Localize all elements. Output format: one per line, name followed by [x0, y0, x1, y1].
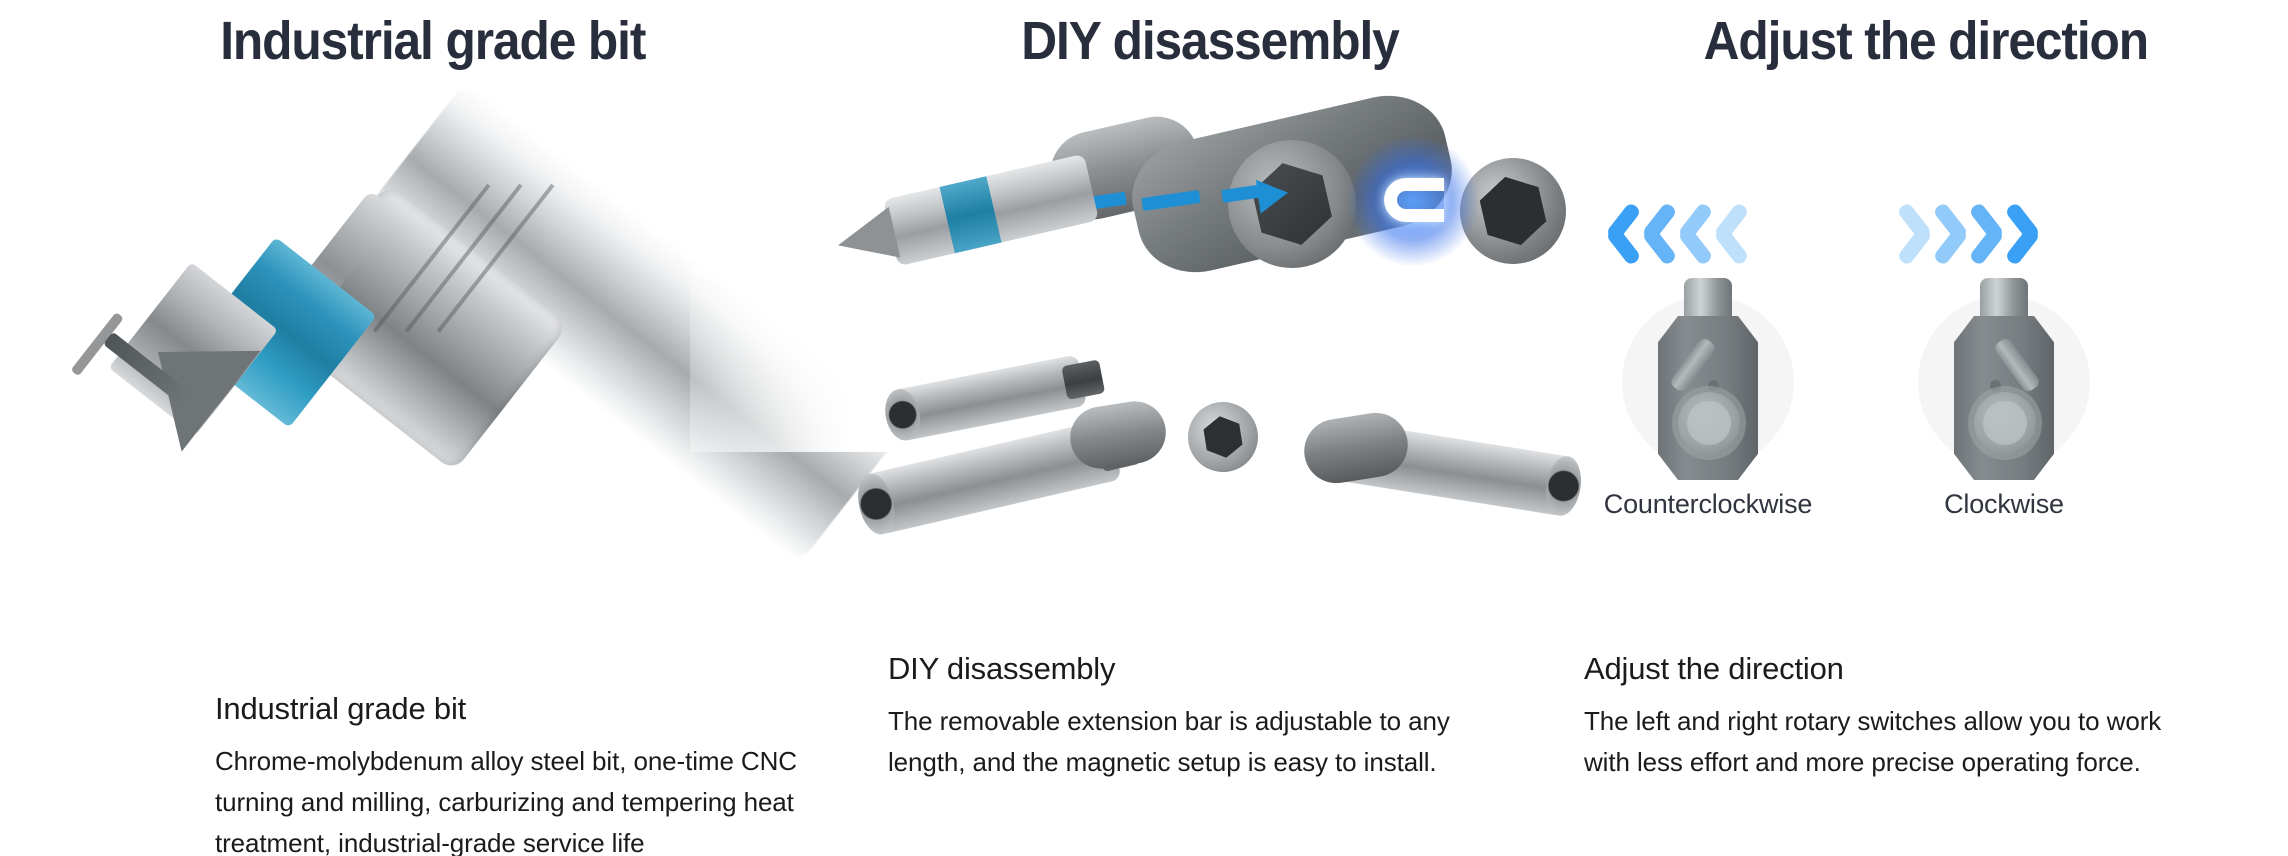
loose-bit-graphic	[883, 154, 1099, 267]
clockwise-label: Clockwise	[1884, 488, 2124, 520]
bar-hex-plug	[1061, 359, 1105, 400]
caption-body: Chrome-molybdenum alloy steel bit, one-t…	[215, 741, 835, 856]
chevron-left-icon	[1676, 204, 1710, 264]
caption-title: DIY disassembly	[888, 650, 1488, 688]
feature-column-diy-disassembly: DIY disassembly	[860, 0, 1560, 856]
bar-socket-mouth	[881, 386, 924, 444]
caption-title: Adjust the direction	[1584, 650, 2204, 688]
column-2-headline: DIY disassembly	[888, 0, 1532, 72]
chevron-right-icon	[1936, 204, 1970, 264]
hex-hole-icon	[1471, 169, 1555, 253]
column-1-caption: Industrial grade bit Chrome-molybdenum a…	[215, 690, 835, 856]
caption-title: Industrial grade bit	[215, 690, 835, 728]
extension-bar-graphic	[891, 354, 1087, 441]
direction-wrap: Counterclockwise Clockwise	[1560, 72, 2288, 592]
switch-knob-icon	[1708, 380, 1719, 391]
column-2-caption: DIY disassembly The removable extension …	[888, 650, 1488, 783]
counterclockwise-label: Counterclockwise	[1588, 488, 1828, 520]
switch-knob-icon	[1990, 380, 2001, 391]
feature-column-adjust-the-direction: Adjust the direction	[1560, 0, 2288, 856]
chevron-right-icon	[1972, 204, 2006, 264]
counterclockwise-switch: Counterclockwise	[1588, 296, 1828, 520]
bit-closeup-illustration	[0, 72, 860, 592]
switch-shaft-graphic	[1684, 278, 1732, 322]
column-3-headline: Adjust the direction	[1589, 0, 2259, 72]
loose-bit-tip-graphic	[832, 207, 900, 271]
switch-dial-graphic	[1678, 392, 1740, 454]
switch-circle-backdrop	[1918, 296, 2090, 468]
feature-columns: Industrial grade bit	[0, 0, 2288, 856]
hub-hex-hole-icon	[1199, 413, 1247, 461]
counterclockwise-arrow-group	[1604, 204, 1748, 264]
direction-illustration: Counterclockwise Clockwise	[1560, 72, 2288, 592]
caption-body: The removable extension bar is adjustabl…	[888, 701, 1488, 783]
chevron-left-icon	[1712, 204, 1746, 264]
feature-column-industrial-grade-bit: Industrial grade bit	[0, 0, 860, 856]
product-feature-banner: Industrial grade bit	[0, 0, 2288, 856]
switch-circle-backdrop	[1622, 296, 1794, 468]
exploded-driver-illustration	[860, 72, 1560, 592]
chevron-right-icon	[2008, 204, 2042, 264]
clockwise-switch: Clockwise	[1884, 296, 2124, 520]
switch-dial-graphic	[1974, 392, 2036, 454]
chevron-left-icon	[1604, 204, 1638, 264]
magnet-glow-graphic	[1348, 136, 1478, 266]
magnet-icon	[1384, 178, 1444, 222]
clockwise-arrow-group	[1900, 204, 2044, 264]
chevron-right-icon	[1900, 204, 1934, 264]
bit-scene	[0, 72, 860, 592]
switch-shaft-graphic	[1980, 278, 2028, 322]
bar-socket-mouth	[853, 470, 900, 538]
chevron-left-icon	[1640, 204, 1674, 264]
loose-bit-teal-band	[940, 176, 1002, 253]
column-3-caption: Adjust the direction The left and right …	[1584, 650, 2204, 783]
caption-body: The left and right rotary switches allow…	[1584, 701, 2204, 783]
